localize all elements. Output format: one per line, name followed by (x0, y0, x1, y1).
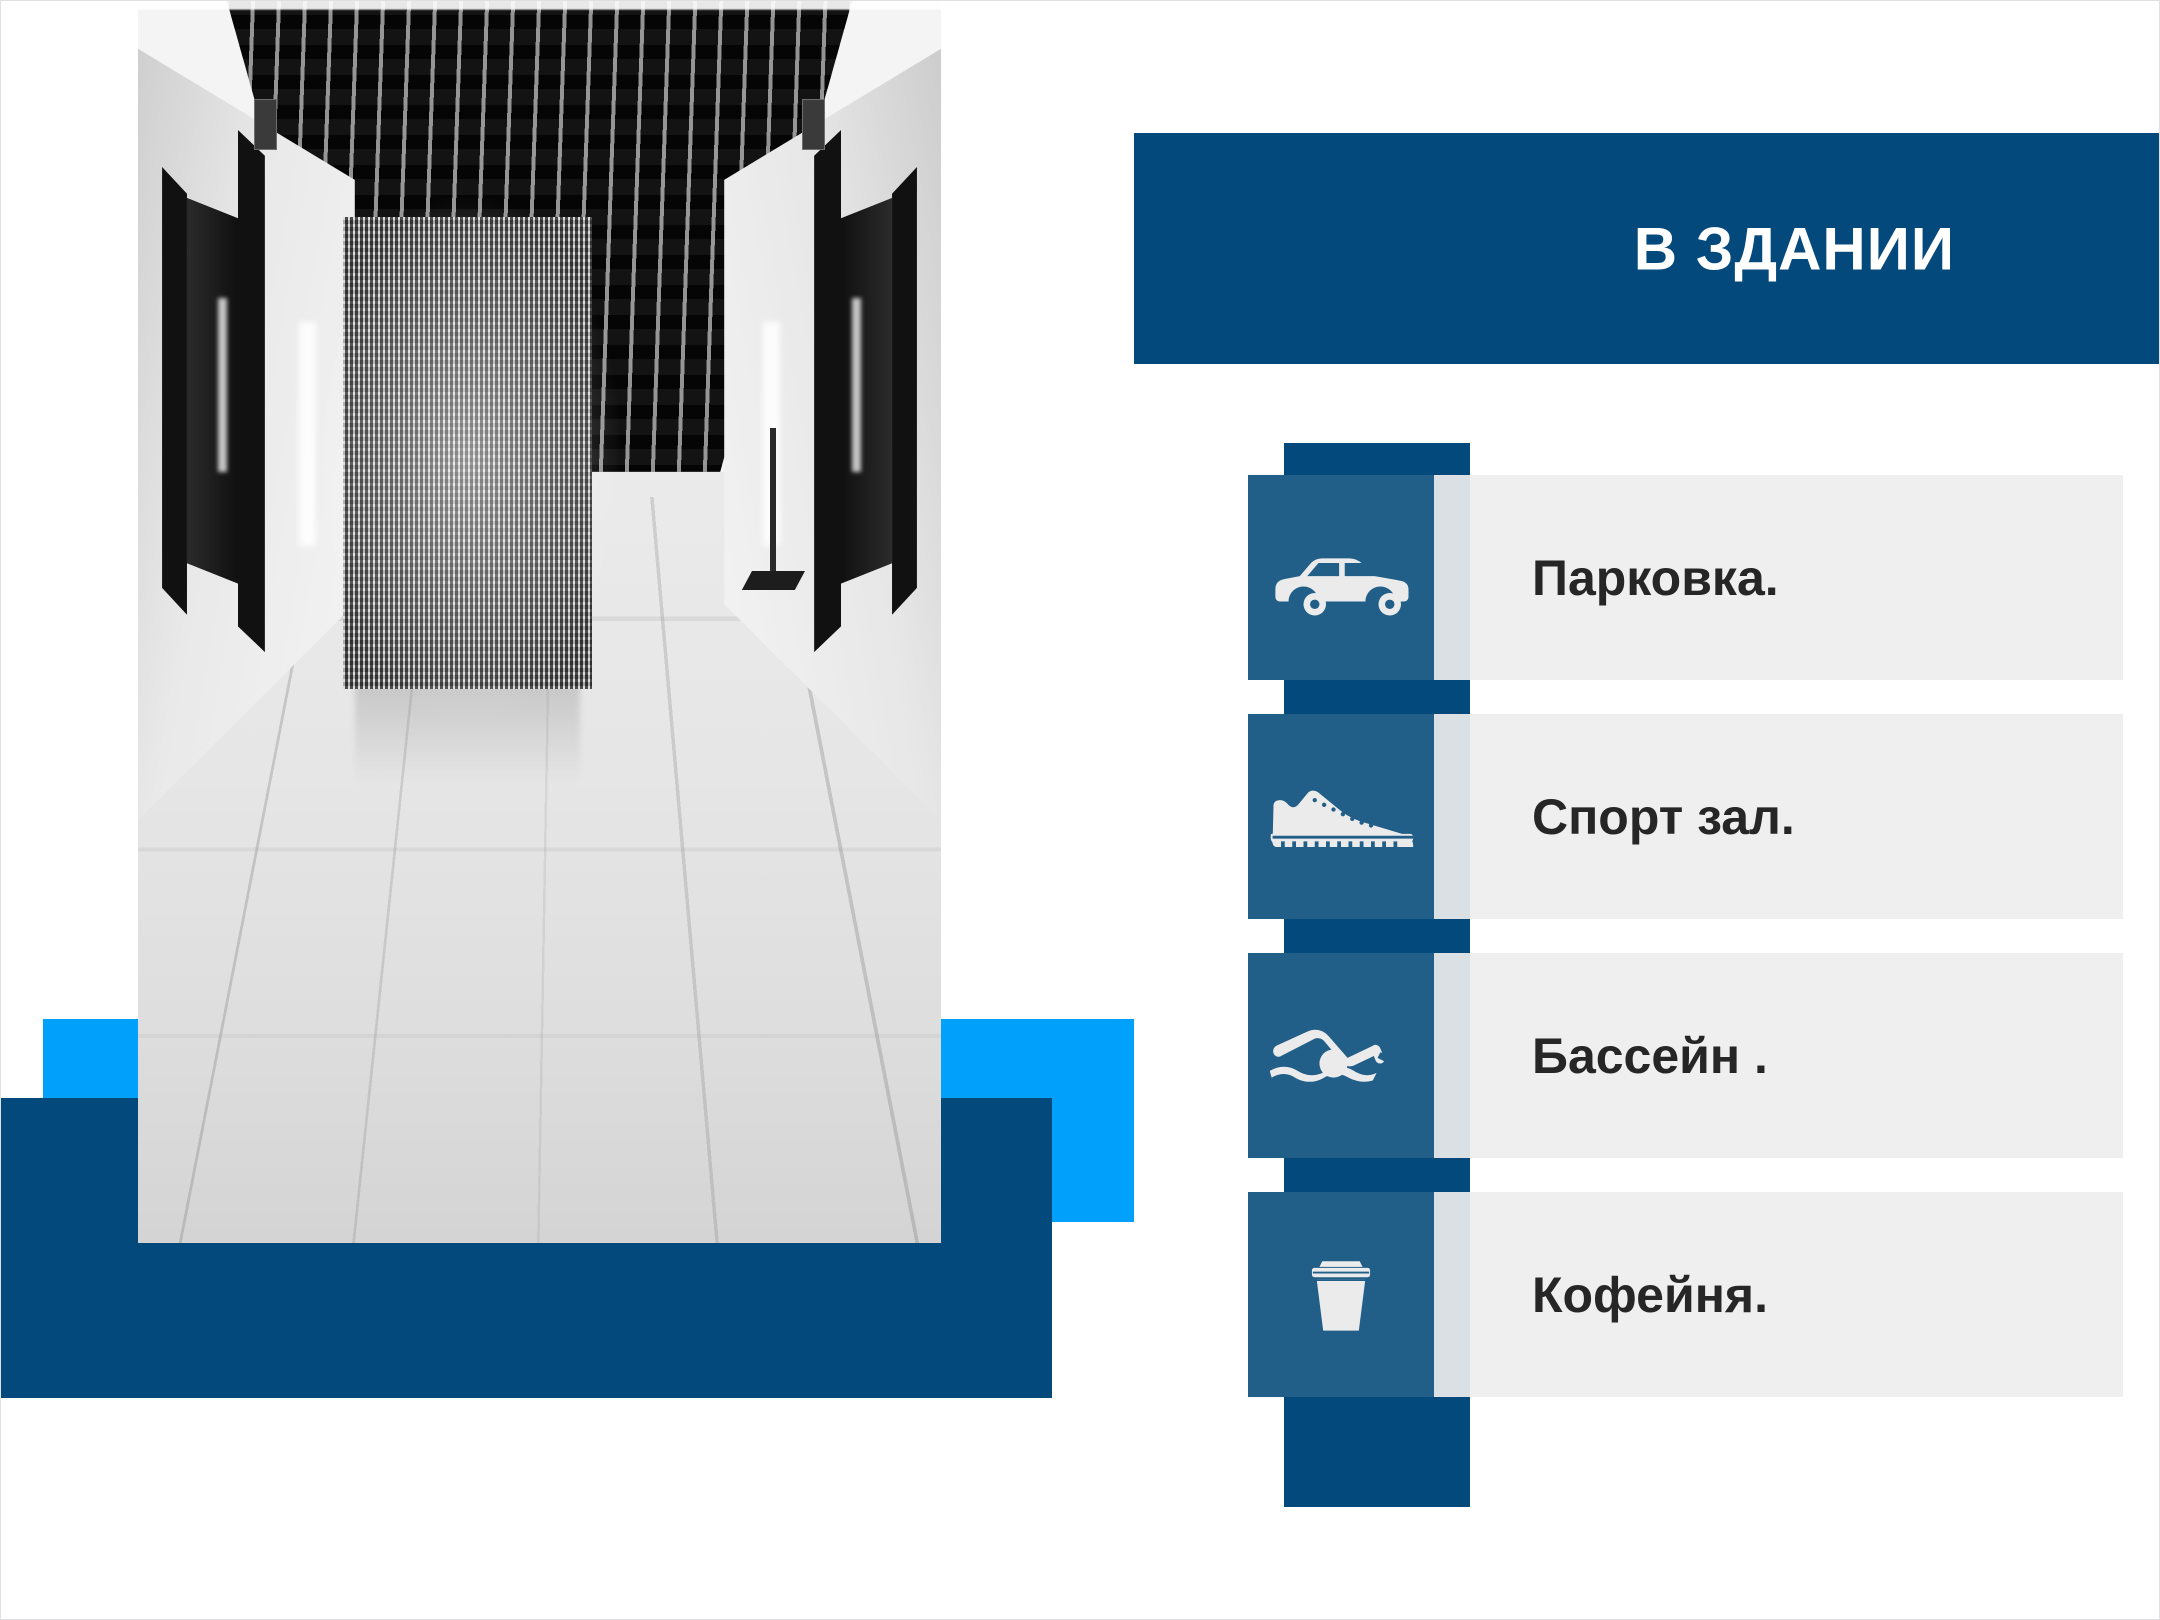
coffee-cup-icon (1248, 1192, 1434, 1397)
car-icon (1248, 475, 1434, 680)
slide-canvas: В ЗДАНИИ Парковка. (0, 0, 2160, 1620)
list-item[interactable]: Парковка. (1248, 475, 2123, 680)
list-item-label: Бассейн . (1434, 1027, 2123, 1085)
page-title: В ЗДАНИИ (1634, 214, 1955, 283)
list-item-label: Спорт зал. (1434, 788, 2123, 846)
list-item[interactable]: Спорт зал. (1248, 714, 2123, 919)
list-item[interactable]: Кофейня. (1248, 1192, 2123, 1397)
swimmer-icon (1248, 953, 1434, 1158)
list-item-label: Кофейня. (1434, 1266, 2123, 1324)
list-item[interactable]: Бассейн . (1248, 953, 2123, 1158)
sneaker-icon (1248, 714, 1434, 919)
amenities-list: Парковка. (1248, 475, 2123, 1397)
title-banner: В ЗДАНИИ (1134, 133, 2160, 364)
list-item-label: Парковка. (1434, 549, 2123, 607)
lobby-photo (138, 0, 941, 1243)
